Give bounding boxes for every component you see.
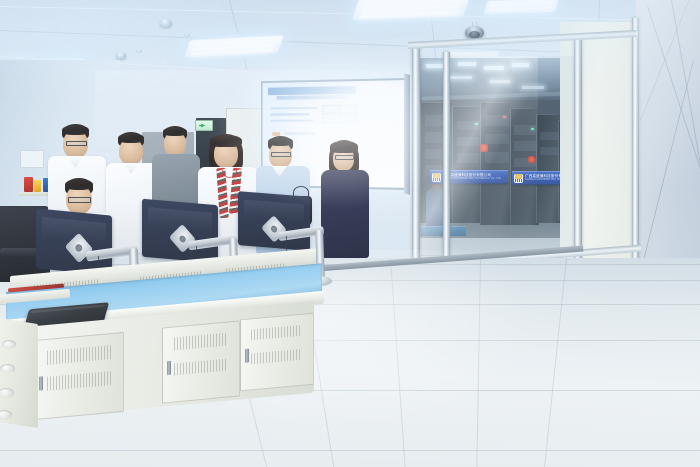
- desk-end-dimple: [2, 340, 16, 349]
- award-plaque: [24, 177, 33, 192]
- desk-end-dimple: [0, 364, 15, 373]
- hair-fringe: [210, 135, 242, 147]
- hair: [118, 133, 144, 143]
- hair: [65, 179, 93, 190]
- torso: [321, 170, 369, 258]
- projection-screen-edge: [404, 73, 410, 194]
- glasses-icon: [68, 197, 91, 203]
- glasses-icon: [271, 152, 291, 157]
- hair: [62, 125, 89, 135]
- sprinkler-icon: [136, 49, 142, 53]
- desk-cabinet-door-3[interactable]: [240, 313, 314, 392]
- desk-cabinet-door-1[interactable]: [34, 332, 124, 420]
- hair-fringe: [330, 141, 358, 153]
- console-desk: [0, 224, 300, 424]
- dome-camera-icon[interactable]: [465, 26, 484, 39]
- visitor-6: [320, 140, 374, 260]
- glasses-icon: [335, 155, 354, 160]
- control-room-photo: 广西高盛通科技股份有限公司 GUANGXI GAOSHENGTONG TECHN…: [0, 0, 700, 467]
- smoke-detector-icon: [160, 19, 172, 27]
- desk-cabinet-door-2[interactable]: [162, 320, 240, 403]
- smoke-detector-icon: [116, 52, 126, 59]
- glasses-icon: [66, 141, 87, 146]
- wall-notice-paper: [20, 150, 44, 168]
- hair: [268, 137, 293, 146]
- award-plaque: [34, 180, 41, 192]
- sprinkler-icon: [184, 33, 190, 37]
- hair: [163, 127, 187, 136]
